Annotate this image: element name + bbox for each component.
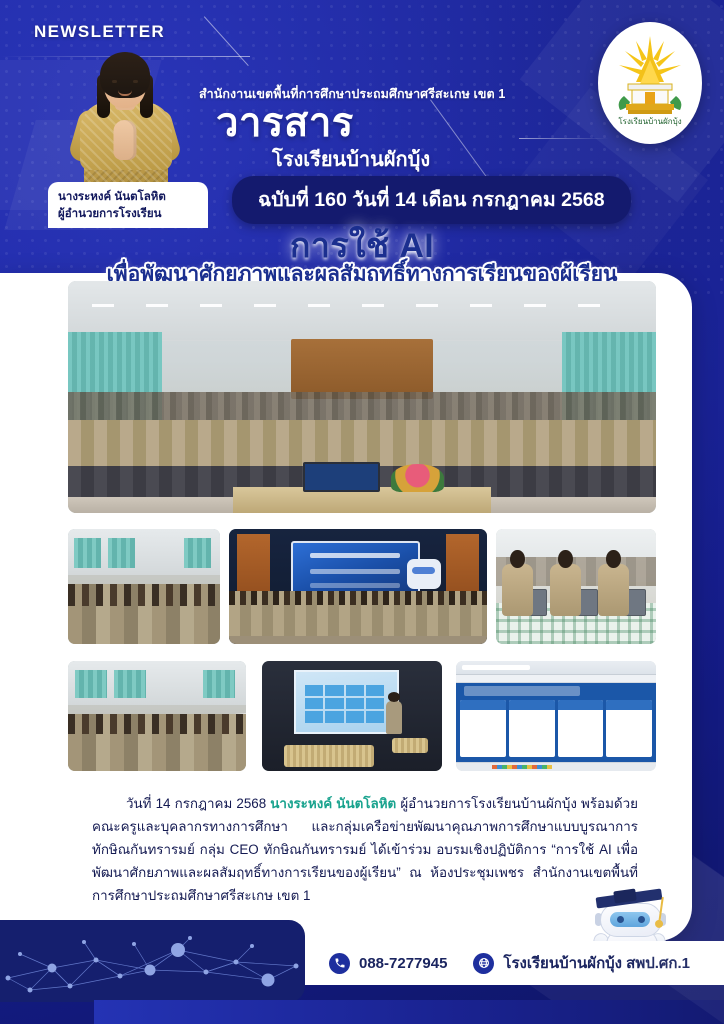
article-text: ผู้อำนวยการโรงเรียนบ้านผักบุ้ง พร้อมด้วย…	[92, 796, 638, 903]
grid-photo-scene	[496, 529, 656, 644]
emblem-caption: โรงเรียนบ้านผักบุ้ง	[618, 116, 681, 126]
footer-phone[interactable]: 088-7277945	[329, 953, 447, 974]
portrait-eye-right	[133, 80, 138, 83]
grid-photo	[262, 661, 442, 771]
robot-eye-right	[638, 916, 645, 923]
grid-photo-scene	[456, 661, 656, 771]
hero-photo	[68, 281, 656, 513]
newsletter-eyebrow-label: NEWSLETTER	[34, 22, 165, 42]
grid-photo-scene	[262, 661, 442, 771]
portrait-wai-hands	[114, 120, 137, 160]
article-body: วันที่ 14 กรกฎาคม 2568 นางระหงค์ นันตโลห…	[92, 792, 638, 907]
emblem-artwork: โรงเรียนบ้านผักบุ้ง	[598, 22, 702, 144]
globe-icon	[473, 953, 494, 974]
decorative-hairline-right-diagonal	[430, 99, 487, 177]
grid-photo-scene	[68, 529, 220, 644]
page-title: วารสาร	[216, 103, 354, 143]
robot-eye-left	[617, 916, 624, 923]
network-graphic	[0, 920, 305, 1002]
footer-accent-strip	[94, 1000, 724, 1024]
school-name: โรงเรียนบ้านผักบุ้ง	[272, 150, 430, 170]
grid-photo-scene	[229, 529, 487, 644]
portrait-eye-left	[112, 80, 117, 83]
issue-badge: ฉบับที่ 160 วันที่ 14 เดือน กรกฎาคม 2568	[232, 176, 631, 224]
hero-photo-scene	[68, 281, 656, 513]
grid-photo	[68, 529, 220, 644]
phone-icon	[329, 953, 350, 974]
school-emblem: โรงเรียนบ้านผักบุ้ง	[598, 22, 702, 144]
decorative-hairline-right	[519, 138, 609, 139]
grid-photo	[456, 661, 656, 771]
grid-photo	[229, 529, 487, 644]
article-highlight-name: นางระหงค์ นันตโลหิต	[270, 796, 396, 811]
newsletter-page: NEWSLETTER นางระหงค์ นันตโลหิต ผู้อำนวยก…	[0, 0, 724, 1024]
grid-photo	[68, 661, 246, 771]
decorative-hairline-diagonal	[204, 16, 249, 66]
article-date: วันที่ 14 กรกฎาคม 2568	[126, 796, 270, 811]
director-name: นางระหงค์ นันตโลหิต	[58, 189, 200, 206]
network-graphic-panel	[0, 920, 305, 1002]
grid-photo-scene	[68, 661, 246, 771]
footer-phone-number: 088-7277945	[359, 955, 447, 972]
grid-photo	[496, 529, 656, 644]
